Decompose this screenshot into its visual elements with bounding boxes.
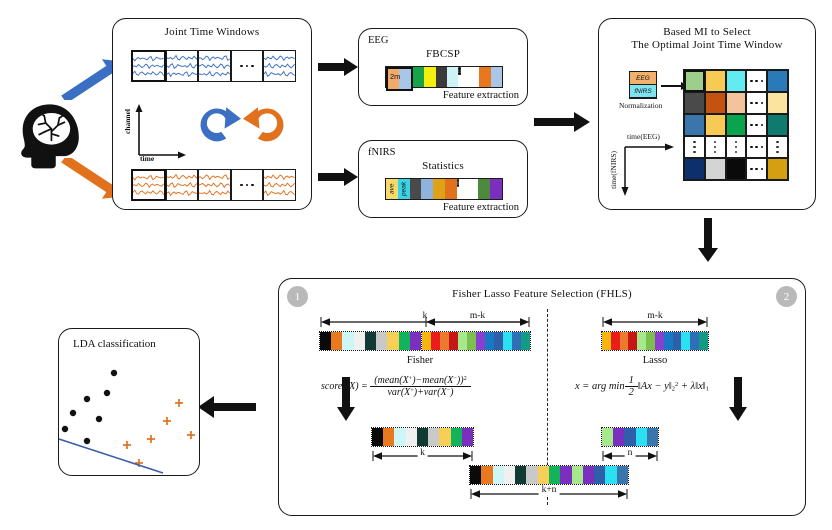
strip-cell	[583, 466, 594, 484]
fbcsp-2m-label: 2m	[390, 72, 400, 81]
normalization-label: Normalization	[619, 101, 662, 110]
axis-label-time: time	[140, 154, 154, 163]
strip-cell	[451, 428, 462, 446]
strip-cell	[605, 466, 616, 484]
brace-mk: m-k	[424, 315, 531, 329]
normalization-cell-label: EEG	[630, 72, 656, 84]
matrix-cell[interactable]	[726, 70, 747, 92]
time-window-cell[interactable]	[131, 50, 166, 82]
strip-cell	[428, 428, 439, 446]
matrix-cell[interactable]	[726, 114, 747, 136]
matrix-cell[interactable]	[705, 158, 726, 180]
strip-cell	[410, 179, 422, 199]
matrix-cell[interactable]	[767, 158, 788, 180]
strip-cell	[449, 332, 458, 350]
arrow-to-mi-box	[534, 112, 590, 132]
arrow-fisher-down	[337, 377, 355, 421]
mi-selection-box: Based MI to Select The Optimal Joint Tim…	[598, 18, 816, 210]
matrix-cell[interactable]	[746, 158, 767, 180]
brace-kn: k+n	[469, 487, 629, 501]
statistics-feature-strip[interactable]: avepeak	[385, 178, 503, 200]
strip-cell	[664, 332, 673, 350]
strip-cell	[424, 67, 435, 87]
strip-cell	[365, 332, 376, 350]
strip-cell	[646, 332, 655, 350]
strip-cell	[383, 428, 394, 446]
matrix-cell[interactable]	[726, 92, 747, 114]
strip-cell	[320, 332, 331, 350]
strip-cell	[515, 466, 526, 484]
ellipsis-icon	[458, 67, 479, 87]
strip-cell	[613, 428, 624, 446]
matrix-cell[interactable]	[767, 70, 788, 92]
matrix-cell[interactable]	[726, 136, 747, 158]
time-window-cell[interactable]	[231, 169, 264, 201]
strip-cell	[647, 428, 658, 446]
strip-cell	[526, 466, 537, 484]
fnirs-time-windows[interactable]	[131, 169, 296, 201]
brace-k-out: k	[371, 449, 474, 463]
matrix-cell[interactable]	[684, 136, 705, 158]
strip-cell	[512, 332, 521, 350]
normalization-cell: fNIRS	[630, 85, 656, 98]
strip-cell	[447, 67, 458, 87]
mi-title-line1: Based MI to Select	[599, 26, 815, 38]
strip-cell: ave	[386, 179, 398, 199]
matrix-cell[interactable]	[767, 114, 788, 136]
strip-cell	[699, 332, 708, 350]
fisher-label: Fisher	[375, 355, 465, 366]
strip-cell	[681, 332, 690, 350]
strip-cell	[467, 332, 476, 350]
lasso-output-strip[interactable]	[601, 427, 659, 447]
strip-cell	[504, 466, 515, 484]
axis-label-time-fnirs: time(fNIRS)	[609, 151, 618, 189]
strip-cell	[655, 332, 664, 350]
strip-cell	[624, 428, 635, 446]
time-window-cell[interactable]	[198, 169, 231, 201]
strip-cell	[462, 428, 473, 446]
arrow-lasso-down	[729, 377, 747, 421]
strip-cell	[481, 466, 492, 484]
strip-cell	[594, 466, 605, 484]
brace-n-label: n	[625, 448, 636, 458]
eeg-feature-box: EEG FBCSP 2m Feature extraction	[358, 28, 528, 106]
time-window-cell[interactable]	[166, 169, 199, 201]
normalization-cell-label: fNIRS	[630, 85, 656, 97]
statistics-title: Statistics	[359, 160, 527, 172]
strip-cell	[690, 332, 699, 350]
strip-cell	[485, 332, 494, 350]
eeg-box-tag: EEG	[368, 35, 388, 46]
brace-kn-label: k+n	[539, 485, 560, 495]
fbcsp-feature-strip[interactable]: 2m	[385, 66, 503, 88]
strip-cell	[458, 332, 467, 350]
normalization-block[interactable]: EEGfNIRS	[629, 71, 657, 99]
axis-label-channel: channel	[123, 109, 132, 134]
strip-cell	[673, 332, 682, 350]
matrix-cell[interactable]	[705, 70, 726, 92]
matrix-cell[interactable]	[684, 92, 705, 114]
strip-cell	[490, 179, 502, 199]
fisher-output-strip[interactable]	[371, 427, 474, 447]
strip-cell	[521, 332, 530, 350]
fhls-title: Fisher Lasso Feature Selection (FHLS)	[279, 288, 805, 300]
strip-cell	[476, 332, 485, 350]
fnirs-box-footer: Feature extraction	[443, 202, 519, 213]
strip-cell	[636, 428, 647, 446]
strip-cell	[376, 332, 387, 350]
strip-cell: peak	[398, 179, 410, 199]
strip-cell	[399, 67, 412, 91]
matrix-cell[interactable]	[767, 136, 788, 158]
matrix-cell[interactable]	[705, 92, 726, 114]
input-strip-mk[interactable]	[422, 331, 531, 351]
matrix-cell[interactable]	[684, 158, 705, 180]
time-window-cell[interactable]	[198, 50, 231, 82]
brace-k-out-label: k	[417, 448, 428, 458]
brace-mk-right-label: m-k	[644, 311, 665, 321]
strip-cell	[549, 466, 560, 484]
lasso-label: Lasso	[609, 355, 701, 366]
strip-cell	[413, 67, 424, 87]
strip-cell-label: peak	[398, 179, 410, 199]
strip-cell	[572, 466, 583, 484]
time-window-cell[interactable]	[231, 50, 264, 82]
strip-cell	[399, 332, 410, 350]
strip-cell	[372, 428, 383, 446]
strip-cell	[406, 428, 417, 446]
strip-cell	[440, 332, 449, 350]
joint-time-windows-title: Joint Time Windows	[113, 26, 311, 38]
matrix-cell[interactable]	[705, 114, 726, 136]
strip-cell	[431, 332, 440, 350]
strip-cell	[479, 67, 490, 87]
matrix-cell[interactable]	[746, 70, 767, 92]
arrow-mi-to-fhls	[698, 218, 718, 262]
time-window-cell[interactable]	[131, 169, 166, 201]
strip-cell	[617, 466, 628, 484]
strip-cell	[491, 67, 502, 87]
joint-time-windows-box: Joint Time Windows channel time	[112, 18, 312, 210]
strip-cell	[493, 466, 504, 484]
strip-cell	[602, 428, 613, 446]
strip-cell	[342, 332, 353, 350]
strip-cell	[628, 332, 637, 350]
strip-cell	[611, 332, 620, 350]
strip-cell	[494, 332, 503, 350]
matrix-cell[interactable]	[684, 114, 705, 136]
orange-circular-arrow-icon	[241, 104, 291, 150]
brace-n: n	[601, 449, 659, 463]
matrix-cell[interactable]	[746, 114, 767, 136]
strip-cell	[331, 332, 342, 350]
strip-cell	[354, 332, 365, 350]
fbcsp-title: FBCSP	[359, 48, 527, 60]
combined-feature-strip[interactable]	[469, 465, 629, 485]
strip-cell	[470, 466, 481, 484]
matrix-cell[interactable]	[767, 92, 788, 114]
strip-cell	[503, 332, 512, 350]
matrix-cell[interactable]	[746, 136, 767, 158]
matrix-cell[interactable]	[726, 158, 747, 180]
strip-cell	[538, 466, 549, 484]
lda-scatter-plot	[59, 351, 201, 475]
time-window-cell[interactable]	[166, 50, 199, 82]
lda-title: LDA classification	[73, 338, 156, 350]
strip-cell	[422, 332, 431, 350]
time-window-cell[interactable]	[263, 50, 296, 82]
mi-score-matrix[interactable]	[683, 69, 789, 181]
matrix-cell[interactable]	[746, 92, 767, 114]
lasso-input-strip[interactable]	[601, 331, 709, 351]
fnirs-feature-box: fNIRS Statistics avepeak Feature extract…	[358, 140, 528, 218]
channel-time-axes: channel time	[127, 101, 191, 161]
lasso-formula: x = arg min12‖Ax − y‖22 + λ‖x‖1	[575, 375, 709, 398]
fnirs-box-tag: fNIRS	[368, 147, 395, 158]
blue-circular-arrow-icon	[193, 104, 243, 150]
mi-axes: time(EEG) time(fNIRS)	[617, 141, 679, 203]
strip-cell	[421, 179, 433, 199]
arrow-fhls-to-lda	[198, 396, 256, 418]
fhls-box: 1 2 Fisher Lasso Feature Selection (FHLS…	[278, 278, 806, 516]
matrix-cell[interactable]	[684, 70, 705, 92]
strip-cell	[602, 332, 611, 350]
strip-cell	[478, 179, 490, 199]
lda-box: LDA classification	[58, 328, 200, 476]
axis-label-time-eeg: time(EEG)	[627, 132, 660, 141]
strip-cell	[637, 332, 646, 350]
strip-cell	[445, 179, 457, 199]
arrow-to-fnirs-box	[318, 168, 358, 186]
matrix-cell[interactable]	[705, 136, 726, 158]
normalization-cell: EEG	[630, 72, 656, 85]
strip-cell	[620, 332, 629, 350]
strip-cell	[439, 428, 450, 446]
strip-cell	[436, 67, 447, 87]
mi-title-line2: The Optimal Joint Time Window	[599, 39, 815, 51]
eeg-box-footer: Feature extraction	[443, 90, 519, 101]
brace-mk-label: m-k	[467, 311, 488, 321]
arrow-to-eeg-box	[318, 58, 358, 76]
strip-cell	[417, 428, 428, 446]
strip-cell	[433, 179, 445, 199]
eeg-time-windows[interactable]	[131, 50, 296, 82]
strip-cell	[410, 332, 421, 350]
strip-cell	[394, 428, 405, 446]
strip-cell	[560, 466, 571, 484]
input-strip-k[interactable]	[319, 331, 422, 351]
time-window-cell[interactable]	[263, 169, 296, 201]
strip-cell	[387, 332, 398, 350]
strip-cell-label: ave	[386, 179, 398, 199]
ellipsis-icon	[457, 179, 479, 199]
brace-mk-right: m-k	[601, 315, 709, 329]
